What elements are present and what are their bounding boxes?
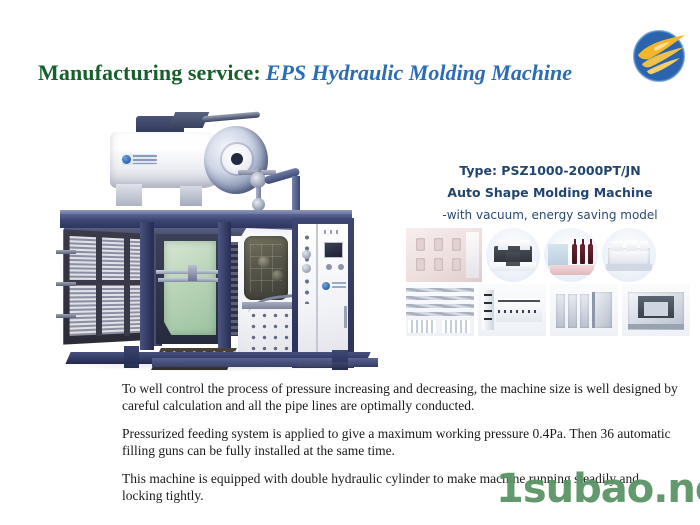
cabinet-logo-text bbox=[332, 282, 346, 290]
sample-eps-appliance-packaging bbox=[486, 228, 540, 282]
tank-support-right bbox=[180, 186, 202, 206]
body-window-grid bbox=[250, 244, 282, 292]
frame-post-left bbox=[140, 222, 154, 350]
slide-page: Manufacturing service:EPS Hydraulic Mold… bbox=[0, 0, 700, 525]
title-product: EPS Hydraulic Molding Machine bbox=[261, 60, 572, 85]
cabinet-indicator-leds bbox=[324, 230, 342, 234]
sample-eps-panel-stack bbox=[406, 284, 474, 336]
cabinet-pushbutton-1 bbox=[326, 264, 332, 270]
page-title: Manufacturing service:EPS Hydraulic Mold… bbox=[38, 58, 572, 88]
title-prefix: Manufacturing service: bbox=[38, 60, 261, 85]
sample-eps-decorative-moulding bbox=[478, 284, 546, 336]
header: Manufacturing service:EPS Hydraulic Mold… bbox=[0, 58, 700, 100]
site-watermark: 1subao.net bbox=[496, 466, 700, 512]
company-logo-icon bbox=[628, 25, 690, 87]
frame-post-middle bbox=[218, 222, 231, 356]
product-sample-gallery bbox=[406, 228, 694, 336]
tank-logo-icon bbox=[122, 155, 131, 164]
cabinet-hmi-screen bbox=[324, 242, 343, 258]
ground-shadow bbox=[62, 364, 362, 372]
mold-chamber-door bbox=[164, 241, 216, 335]
sample-eps-bottle-crate bbox=[544, 228, 598, 282]
mold-cage-fins bbox=[70, 236, 152, 336]
tank-cap-port bbox=[231, 153, 243, 165]
cabinet-door-handle bbox=[344, 306, 347, 328]
cabinet-door-seam bbox=[316, 224, 318, 362]
sample-eps-icf-block bbox=[622, 284, 690, 336]
body-port-1 bbox=[258, 256, 270, 268]
sample-row-top bbox=[406, 228, 694, 282]
description-paragraph-1: To well control the process of pressure … bbox=[122, 380, 682, 414]
description-paragraph-2: Pressurized feeding system is applied to… bbox=[122, 425, 682, 459]
spec-feature-line: -with vacuum, energy saving model bbox=[410, 204, 690, 226]
cage-bar-vertical-1 bbox=[96, 236, 102, 336]
cabinet-selector-knob-1 bbox=[302, 250, 311, 259]
cage-bar-vertical-2 bbox=[124, 236, 130, 336]
cabinet-logo-icon bbox=[322, 282, 330, 290]
cabinet-pushbutton-2 bbox=[338, 264, 344, 270]
cage-tie-rod-2 bbox=[56, 282, 76, 286]
tank-logo-text bbox=[133, 155, 157, 164]
machine-photo bbox=[52, 110, 402, 372]
tank-support-left bbox=[116, 184, 142, 206]
spec-block: Type: PSZ1000-2000PT/JN Auto Shape Moldi… bbox=[410, 160, 690, 226]
tank-pipe bbox=[202, 111, 260, 122]
body-port-2 bbox=[272, 270, 283, 281]
sample-eps-wall-panels bbox=[550, 284, 618, 336]
cage-tie-rod-1 bbox=[56, 250, 76, 254]
cabinet-selector-knob-2 bbox=[302, 264, 311, 273]
sample-row-bottom bbox=[406, 284, 694, 336]
cage-tie-rod-3 bbox=[56, 314, 76, 318]
door-clamp bbox=[188, 265, 197, 281]
spec-type-line: Type: PSZ1000-2000PT/JN bbox=[410, 160, 690, 182]
sample-eps-box-insert bbox=[602, 228, 656, 282]
spec-machine-line: Auto Shape Molding Machine bbox=[410, 182, 690, 204]
sample-eps-packaging-block bbox=[406, 228, 482, 282]
